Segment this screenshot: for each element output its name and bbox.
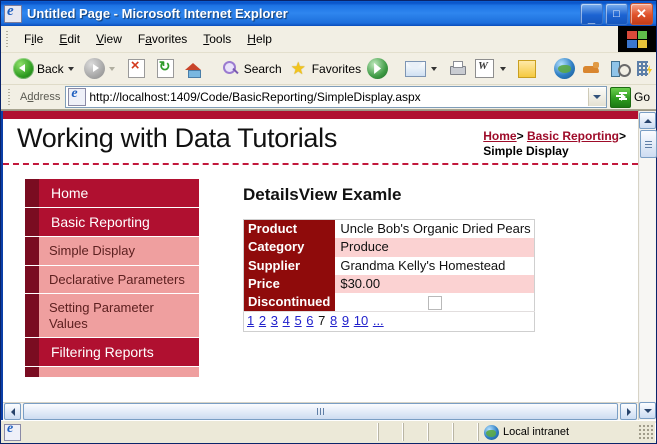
breadcrumb-current: Simple Display <box>483 144 626 159</box>
address-input[interactable]: http://localhost:1409/Code/BasicReportin… <box>89 90 588 104</box>
vertical-scroll-track[interactable] <box>640 130 655 401</box>
ie-brand-logo <box>618 26 656 52</box>
pager-link-4[interactable]: 4 <box>283 313 290 328</box>
field-label-discontinued: Discontinued <box>244 293 336 312</box>
pager-link-6[interactable]: 6 <box>306 313 313 328</box>
media-play-icon <box>367 58 388 79</box>
table-row: Supplier Grandma Kelly's Homestead <box>244 257 535 275</box>
close-icon: ✕ <box>631 4 652 24</box>
page-header: Working with Data Tutorials Home> Basic … <box>3 119 638 165</box>
table-row: Category Produce <box>244 238 535 256</box>
print-button[interactable] <box>444 56 470 81</box>
horizontal-scrollbar[interactable] <box>3 402 638 420</box>
sidebar-item-setting-parameter-values[interactable]: Setting Parameter Values <box>25 294 199 337</box>
up-arrow-icon <box>644 119 652 123</box>
pager-link-1[interactable]: 1 <box>247 313 254 328</box>
ie-page-icon <box>4 5 22 23</box>
right-arrow-icon <box>627 408 631 416</box>
breadcrumb-link-home[interactable]: Home <box>483 129 516 143</box>
content-heading: DetailsView Examle <box>243 185 622 205</box>
messenger-button[interactable] <box>578 56 605 81</box>
stop-icon <box>128 59 145 78</box>
discontinued-checkbox <box>428 296 442 310</box>
title-bar: Untitled Page - Microsoft Internet Explo… <box>1 1 656 26</box>
page-status-icon <box>4 424 21 441</box>
table-row: Price $30.00 <box>244 275 535 293</box>
close-button[interactable]: ✕ <box>630 3 653 25</box>
browser-window: Untitled Page - Microsoft Internet Explo… <box>0 0 657 444</box>
research-button[interactable] <box>605 56 632 81</box>
back-button[interactable]: Back <box>10 56 81 81</box>
globe-icon <box>554 58 575 79</box>
status-pane-1 <box>378 423 403 441</box>
vertical-scrollbar[interactable] <box>638 111 656 420</box>
web-page: Working with Data Tutorials Home> Basic … <box>1 111 638 420</box>
page-body: Home Basic Reporting Simple Display Decl… <box>3 165 638 378</box>
security-zone-label: Local intranet <box>503 426 569 438</box>
window-title: Untitled Page - Microsoft Internet Explo… <box>27 6 288 21</box>
breadcrumb: Home> Basic Reporting> Simple Display <box>483 123 626 159</box>
table-row: Product Uncle Bob's Organic Dried Pears <box>244 220 535 239</box>
mail-button[interactable] <box>401 56 444 81</box>
field-label-product: Product <box>244 220 336 239</box>
browser-viewport: Working with Data Tutorials Home> Basic … <box>1 110 656 420</box>
field-value-category: Produce <box>335 238 534 256</box>
back-label: Back <box>37 62 64 76</box>
search-label: Search <box>244 62 282 76</box>
address-drag-handle[interactable] <box>6 88 14 106</box>
address-bar: Address http://localhost:1409/Code/Basic… <box>1 85 656 110</box>
refresh-icon <box>157 59 174 78</box>
forward-chevron-down-icon[interactable] <box>109 67 115 71</box>
mail-chevron-down-icon[interactable] <box>431 67 437 71</box>
home-icon <box>185 61 202 77</box>
forward-button[interactable] <box>81 56 122 81</box>
pager-link-9[interactable]: 9 <box>342 313 349 328</box>
extras-button[interactable] <box>632 56 657 81</box>
horizontal-scroll-thumb[interactable] <box>23 403 618 420</box>
pager-link-8[interactable]: 8 <box>330 313 337 328</box>
breadcrumb-link-section[interactable]: Basic Reporting <box>527 129 619 143</box>
sidebar-nav: Home Basic Reporting Simple Display Decl… <box>3 179 199 378</box>
globe-icon <box>484 425 499 440</box>
page-icon <box>68 88 86 106</box>
research-icon <box>608 58 629 79</box>
windows-flag-icon <box>627 31 647 48</box>
page-accent-bar <box>3 111 638 119</box>
sidebar-item-basic-reporting[interactable]: Basic Reporting <box>25 208 199 236</box>
go-label: Go <box>634 90 650 104</box>
status-pane-4 <box>453 423 478 441</box>
field-value-supplier: Grandma Kelly's Homestead <box>335 257 534 275</box>
status-pane-2 <box>403 423 428 441</box>
sidebar-item-declarative-parameters[interactable]: Declarative Parameters <box>25 266 199 294</box>
status-message-pane <box>1 423 378 441</box>
details-view-table: Product Uncle Bob's Organic Dried Pears … <box>243 219 535 332</box>
field-label-category: Category <box>244 238 336 256</box>
menu-item-favorites[interactable]: Favorites <box>130 29 195 49</box>
down-arrow-icon <box>644 409 652 413</box>
pager-link-more[interactable]: ... <box>373 313 384 328</box>
field-value-discontinued <box>335 293 534 312</box>
sidebar-item-clipped[interactable] <box>25 367 199 377</box>
toolbar: Back Search ★ Favorites <box>1 53 656 85</box>
left-arrow-icon <box>11 408 15 416</box>
scroll-right-button[interactable] <box>620 403 637 420</box>
pager-current-page: 7 <box>318 313 325 328</box>
minimize-icon: _ <box>581 4 602 24</box>
menu-drag-handle[interactable] <box>4 30 12 48</box>
search-icon <box>220 58 241 79</box>
pager-link-10[interactable]: 10 <box>354 313 368 328</box>
scroll-down-button[interactable] <box>639 402 656 419</box>
favorites-button[interactable]: ★ Favorites <box>285 56 364 81</box>
menu-item-help[interactable]: Help <box>239 29 280 49</box>
menu-item-file[interactable]: File <box>16 29 51 49</box>
sidebar-item-filtering-reports[interactable]: Filtering Reports <box>25 338 199 366</box>
menu-item-tools[interactable]: Tools <box>195 29 239 49</box>
status-pane-3 <box>428 423 453 441</box>
scroll-up-button[interactable] <box>639 112 656 129</box>
sidebar-item-simple-display[interactable]: Simple Display <box>25 237 199 265</box>
pager-row: 1 2 3 4 5 6 7 8 9 10 ... <box>244 312 535 331</box>
fox-icon <box>581 58 602 79</box>
status-bar: Local intranet <box>1 420 656 443</box>
search-button[interactable]: Search <box>217 56 285 81</box>
menu-item-view[interactable]: View <box>88 29 130 49</box>
back-chevron-down-icon[interactable] <box>68 67 74 71</box>
go-arrow-icon <box>610 87 631 108</box>
favorites-label: Favorites <box>312 62 361 76</box>
menu-bar: File Edit View Favorites Tools Help <box>1 26 656 53</box>
maximize-button[interactable]: □ <box>605 3 628 25</box>
field-label-supplier: Supplier <box>244 257 336 275</box>
address-input-container[interactable]: http://localhost:1409/Code/BasicReportin… <box>65 86 607 108</box>
main-content: DetailsView Examle Product Uncle Bob's O… <box>199 179 638 378</box>
star-icon: ★ <box>288 58 309 79</box>
address-label: Address <box>20 91 60 103</box>
security-zone-pane[interactable]: Local intranet <box>478 423 656 441</box>
field-value-price: $30.00 <box>335 275 534 293</box>
mail-icon <box>405 61 426 77</box>
horizontal-scroll-track[interactable] <box>22 404 619 419</box>
media-button[interactable] <box>364 56 391 81</box>
edit-chevron-down-icon[interactable] <box>500 67 506 71</box>
sidebar-item-home[interactable]: Home <box>25 179 199 207</box>
back-arrow-icon <box>13 58 34 79</box>
window-controls: _ □ ✕ <box>580 3 653 25</box>
breadcrumb-separator-1: > <box>517 129 524 143</box>
word-edit-icon <box>475 59 494 78</box>
grip-icon <box>645 141 652 148</box>
breadcrumb-separator-2: > <box>619 129 626 143</box>
scroll-left-button[interactable] <box>4 403 21 420</box>
field-label-price: Price <box>244 275 336 293</box>
grip-icon <box>317 408 325 415</box>
maximize-icon: □ <box>606 4 627 24</box>
pager: 1 2 3 4 5 6 7 8 9 10 ... <box>244 312 535 331</box>
pager-link-5[interactable]: 5 <box>294 313 301 328</box>
field-value-product: Uncle Bob's Organic Dried Pears <box>335 220 534 239</box>
note-icon <box>518 60 536 78</box>
resize-grip[interactable] <box>639 425 653 439</box>
refresh-button[interactable] <box>151 56 180 81</box>
stop-button[interactable] <box>122 56 151 81</box>
home-button[interactable] <box>180 56 207 81</box>
go-button[interactable]: Go <box>610 86 656 108</box>
forward-arrow-icon <box>84 58 105 79</box>
vertical-scroll-thumb[interactable] <box>640 130 657 158</box>
page-title: Working with Data Tutorials <box>17 123 337 154</box>
table-row: Discontinued <box>244 293 535 312</box>
printer-icon <box>448 61 466 76</box>
discuss-button[interactable] <box>551 56 578 81</box>
menu-item-edit[interactable]: Edit <box>51 29 88 49</box>
pager-link-3[interactable]: 3 <box>271 313 278 328</box>
address-dropdown-icon[interactable] <box>588 88 606 106</box>
minimize-button[interactable]: _ <box>580 3 603 25</box>
notes-button[interactable] <box>513 56 541 81</box>
extras-icon <box>635 58 656 79</box>
edit-button[interactable] <box>470 56 513 81</box>
pager-link-2[interactable]: 2 <box>259 313 266 328</box>
